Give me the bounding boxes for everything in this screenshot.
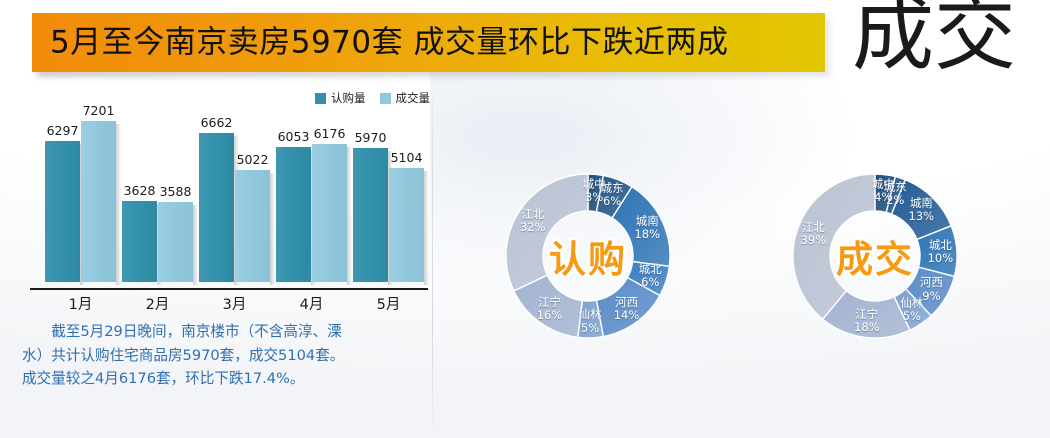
- bar-fill: [81, 121, 116, 282]
- bar-shadow: [270, 173, 275, 285]
- bar-group: 66625022: [199, 112, 277, 282]
- bar-value-label: 3628: [124, 183, 156, 198]
- bar-fill: [45, 141, 80, 282]
- donut-chart-transaction: 成交 城中4%城东2%城南13%城北10%河西9%仙林5%江宁18%江北39%: [755, 136, 995, 376]
- legend-swatch-icon: [380, 93, 391, 104]
- bar-group: 36283588: [122, 112, 200, 282]
- bar-shadow: [193, 205, 198, 285]
- bar-chart-legend: 认购量成交量: [315, 90, 430, 106]
- bar-fill: [235, 170, 270, 282]
- bar-fill: [199, 133, 234, 282]
- bar-group: 62977201: [45, 112, 123, 282]
- bar-fill: [158, 202, 193, 282]
- watermark-text: 成交: [852, 0, 1016, 76]
- bar-transaction: 3588: [158, 202, 193, 282]
- x-axis-label: 3月: [199, 293, 270, 314]
- bar-group: 60536176: [276, 112, 354, 282]
- x-axis-label: 4月: [276, 293, 347, 314]
- bar-value-label: 5104: [391, 150, 423, 165]
- bar-renpurchase: 3628: [122, 201, 157, 282]
- bar-shadow: [116, 124, 121, 285]
- bar-chart-axis-line: [30, 288, 428, 290]
- bar-fill: [353, 148, 388, 282]
- bar-chart: 认购量成交量 629772011月362835882月666250223月605…: [0, 85, 440, 315]
- bar-transaction: 5104: [389, 168, 424, 282]
- title-banner: 5月至今南京卖房5970套 成交量环比下跌近两成: [32, 13, 825, 72]
- bar-fill: [122, 201, 157, 282]
- bar-fill: [312, 144, 347, 282]
- bar-value-label: 5970: [355, 130, 387, 145]
- bar-transaction: 6176: [312, 144, 347, 282]
- x-axis-label: 1月: [45, 293, 116, 314]
- caption-line-2: 水）共计认购住宅商品房5970套，成交5104套。: [22, 344, 422, 368]
- bar-shadow: [347, 147, 352, 285]
- bar-value-label: 6176: [314, 126, 346, 141]
- bar-renpurchase: 5970: [353, 148, 388, 282]
- bar-value-label: 5022: [237, 152, 269, 167]
- legend-item-2: 成交量: [380, 90, 431, 106]
- bar-shadow: [424, 171, 429, 285]
- caption-line-3: 成交量较之4月6176套，环比下跌17.4%。: [22, 367, 422, 391]
- x-axis-label: 5月: [353, 293, 424, 314]
- bar-value-label: 6662: [201, 115, 233, 130]
- bar-value-label: 3588: [160, 184, 192, 199]
- donut-center-label-0: 认购: [549, 229, 627, 283]
- bar-fill: [389, 168, 424, 282]
- x-axis-label: 2月: [122, 293, 193, 314]
- bar-fill: [276, 147, 311, 282]
- caption-line-1: 截至5月29日晚间，南京楼市（不含高淳、溧: [22, 320, 422, 344]
- bar-value-label: 6297: [47, 123, 79, 138]
- legend-swatch-icon: [315, 93, 326, 104]
- bar-group: 59705104: [353, 112, 431, 282]
- banner-fill: 5月至今南京卖房5970套 成交量环比下跌近两成: [32, 13, 825, 72]
- bar-transaction: 7201: [81, 121, 116, 282]
- donut-center-label-1: 成交: [836, 229, 914, 283]
- legend-label: 成交量: [396, 90, 431, 106]
- bar-value-label: 7201: [83, 103, 115, 118]
- legend-item-1: 认购量: [315, 90, 366, 106]
- page-title: 5月至今南京卖房5970套 成交量环比下跌近两成: [50, 27, 728, 58]
- bar-renpurchase: 6662: [199, 133, 234, 282]
- bar-transaction: 5022: [235, 170, 270, 282]
- bar-renpurchase: 6053: [276, 147, 311, 282]
- donut-chart-renpurchase: 认购 城中3%城东6%城南18%城北6%河西14%仙林5%江宁16%江北32%: [468, 136, 708, 376]
- infographic-root: 5月至今南京卖房5970套 成交量环比下跌近两成 成交 认购量成交量 62977…: [0, 0, 1050, 438]
- legend-label: 认购量: [331, 90, 366, 106]
- bar-renpurchase: 6297: [45, 141, 80, 282]
- bar-value-label: 6053: [278, 129, 310, 144]
- caption-block: 截至5月29日晚间，南京楼市（不含高淳、溧 水）共计认购住宅商品房5970套，成…: [22, 320, 422, 391]
